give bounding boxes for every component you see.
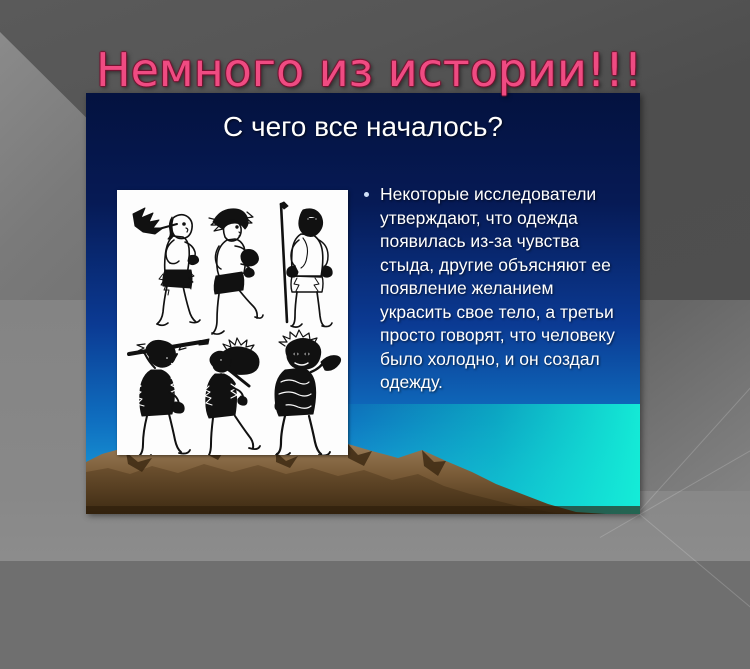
slide-picture bbox=[117, 190, 348, 455]
primitive-people-illustration bbox=[117, 190, 348, 455]
bullet-point-icon bbox=[364, 183, 380, 197]
bullet-list: Некоторые исследователи утверждают, что … bbox=[364, 183, 626, 395]
presentation-title: Немного из истории!!! bbox=[96, 45, 642, 95]
bullet-text: Некоторые исследователи утверждают, что … bbox=[380, 183, 626, 395]
slide-canvas: С чего все началось? bbox=[86, 93, 640, 514]
list-item: Некоторые исследователи утверждают, что … bbox=[364, 183, 626, 395]
slide-heading: С чего все началось? bbox=[86, 111, 640, 143]
